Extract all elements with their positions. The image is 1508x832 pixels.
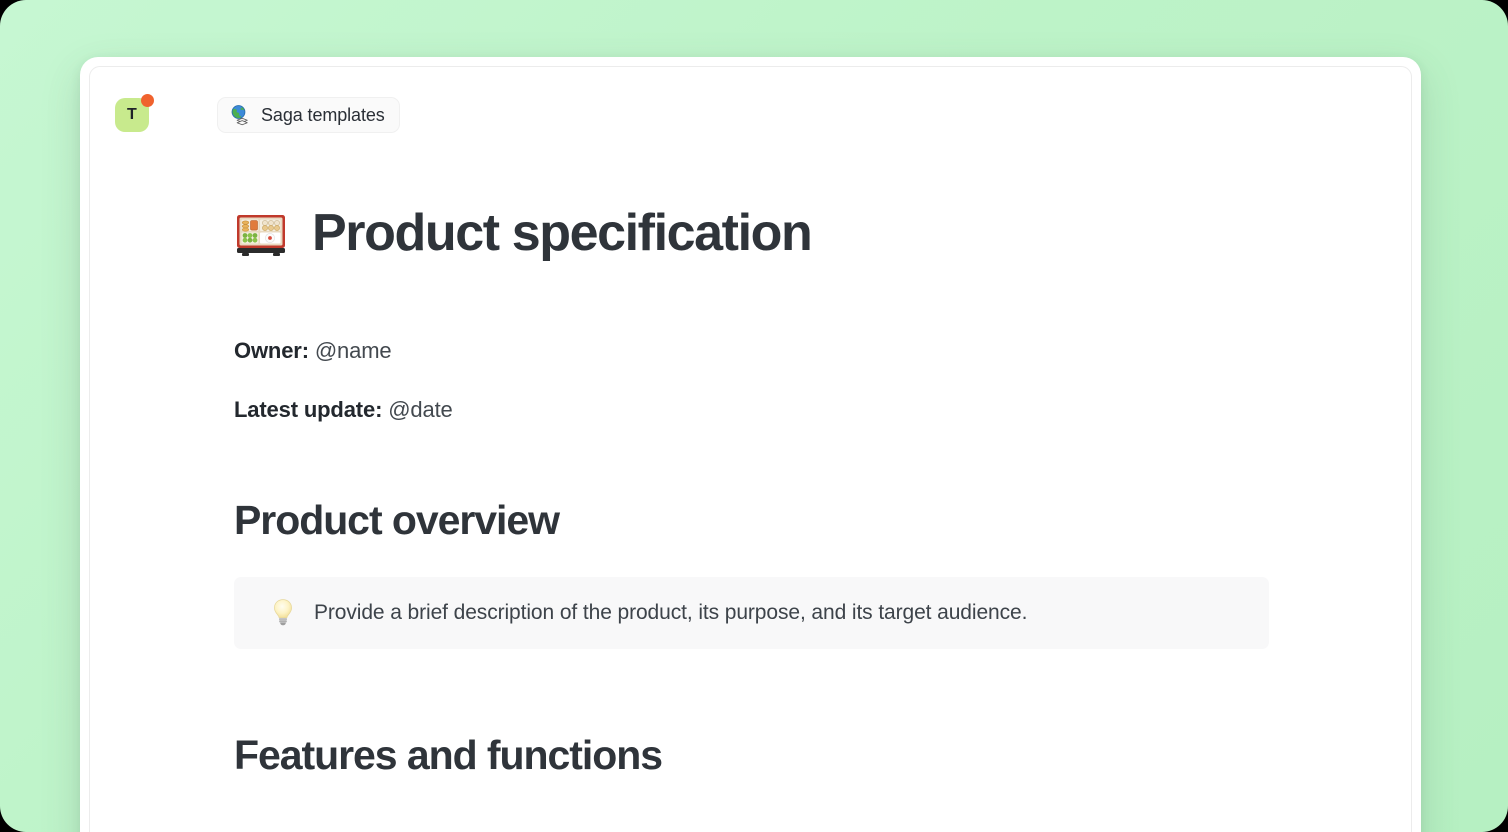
meta-value-owner[interactable]: @name (315, 338, 392, 363)
meta-label-latest-update: Latest update: (234, 397, 382, 422)
page-background: T (0, 0, 1508, 832)
document-meta: Owner: @name Latest update: @date (234, 337, 1349, 424)
meta-value-latest-update[interactable]: @date (388, 397, 452, 422)
notification-dot-icon (141, 94, 154, 107)
callout-text: Provide a brief description of the produ… (314, 599, 1027, 627)
avatar[interactable]: T (115, 98, 149, 132)
meta-row-latest-update: Latest update: @date (234, 396, 1349, 425)
app-window-content: T (89, 66, 1412, 832)
document-body: Product specification Owner: @name Lates… (90, 163, 1411, 779)
callout-product-overview[interactable]: Provide a brief description of the produ… (234, 577, 1269, 649)
document-title-row: Product specification (234, 205, 1349, 261)
page-title: Product specification (312, 205, 811, 261)
globe-stack-icon (229, 104, 251, 126)
section-heading-product-overview: Product overview (234, 498, 1349, 543)
meta-row-owner: Owner: @name (234, 337, 1349, 366)
app-window: T (80, 57, 1421, 832)
topbar: T (90, 67, 1411, 163)
bento-box-emoji-icon (234, 206, 288, 260)
meta-label-owner: Owner: (234, 338, 309, 363)
section-heading-features-and-functions: Features and functions (234, 733, 1349, 778)
breadcrumb[interactable]: Saga templates (217, 97, 400, 133)
breadcrumb-label: Saga templates (261, 105, 385, 126)
light-bulb-emoji-icon (270, 598, 296, 628)
